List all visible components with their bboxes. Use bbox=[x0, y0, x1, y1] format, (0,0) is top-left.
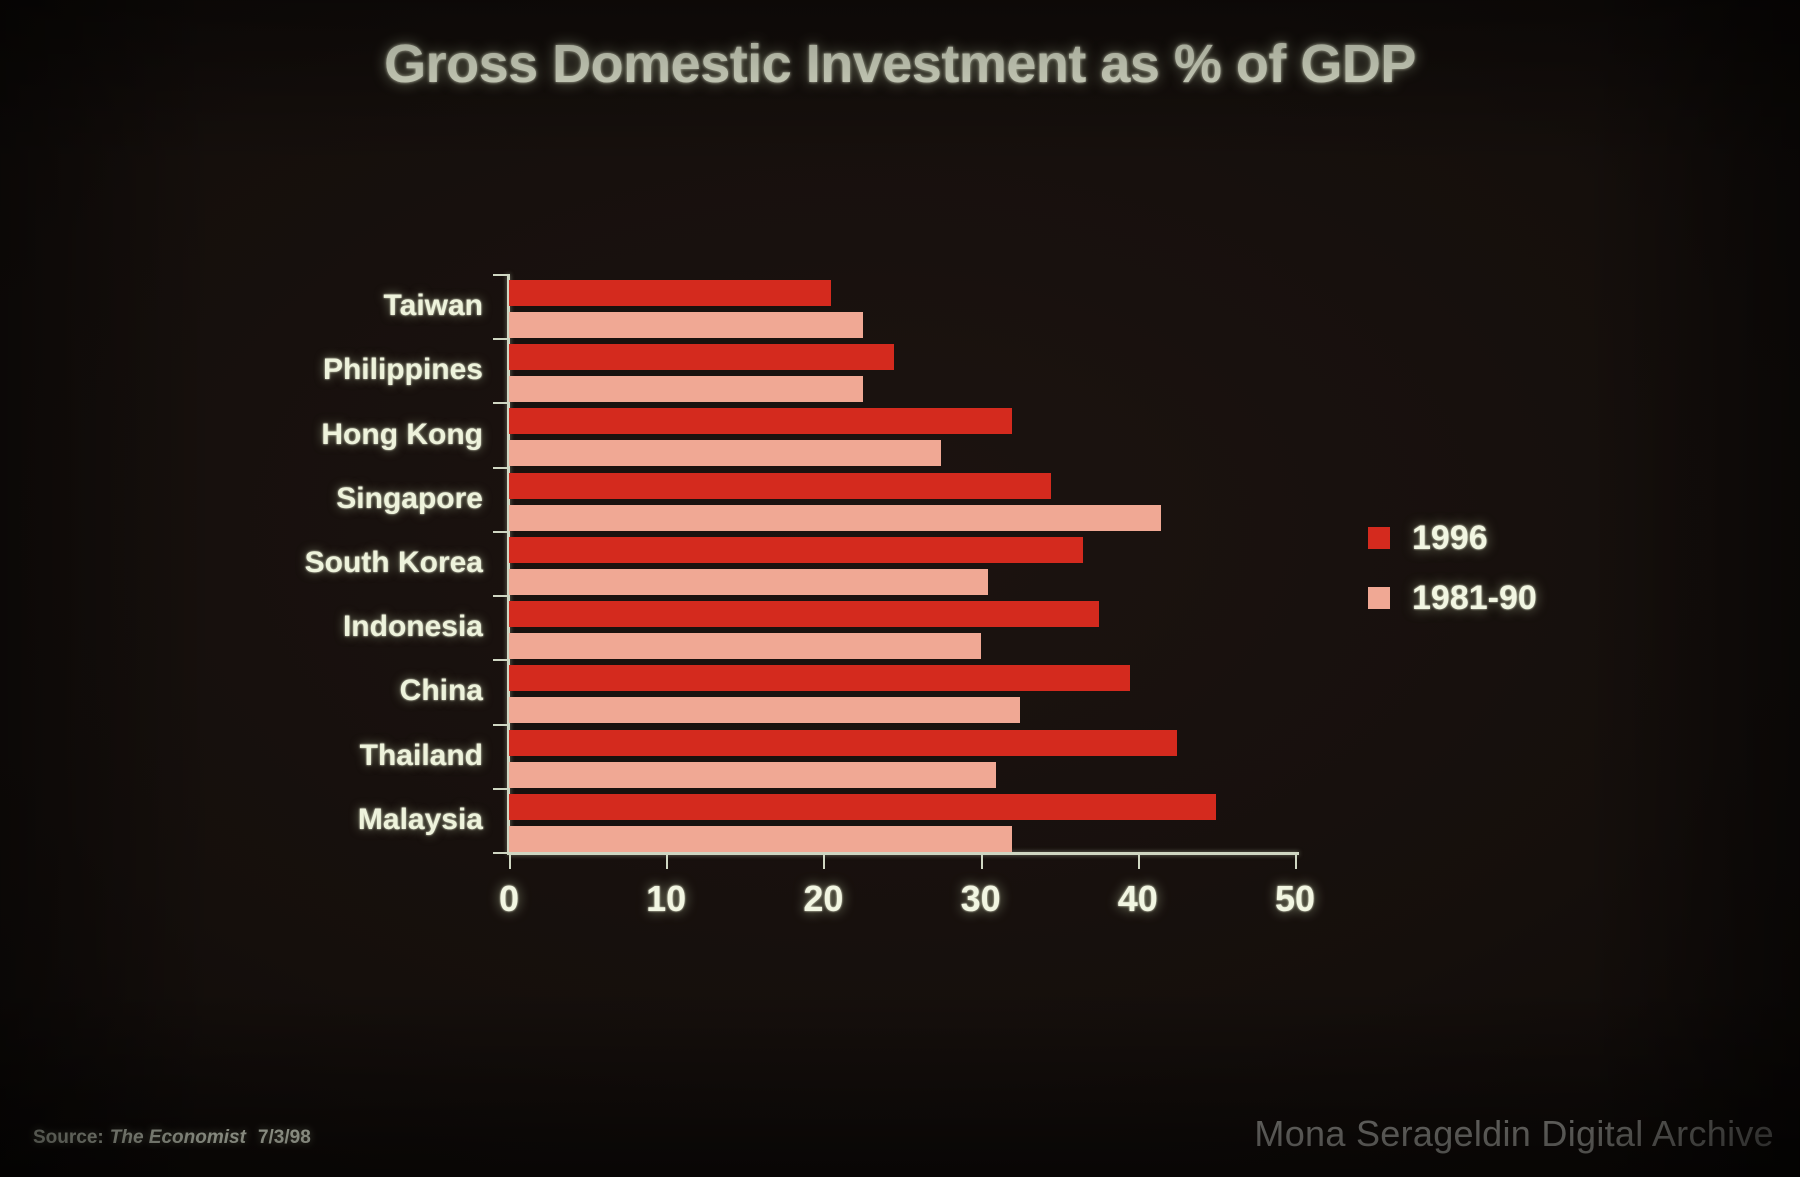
x-axis-tick bbox=[666, 852, 668, 869]
y-axis-tick bbox=[493, 274, 509, 276]
bar-1996 bbox=[509, 730, 1177, 756]
bar-1981-90 bbox=[509, 376, 863, 402]
bar-1981-90 bbox=[509, 697, 1020, 723]
source-note: Source:The Economist7/3/98 bbox=[33, 1127, 311, 1149]
category-label: Singapore bbox=[336, 482, 483, 516]
category-label: Philippines bbox=[323, 353, 483, 387]
y-axis-tick bbox=[493, 402, 509, 404]
y-axis-tick bbox=[493, 338, 509, 340]
x-axis-tick bbox=[981, 852, 983, 869]
y-axis-tick bbox=[493, 595, 509, 597]
bar-1996 bbox=[509, 344, 894, 370]
x-axis-tick bbox=[823, 852, 825, 869]
y-axis-tick bbox=[493, 788, 509, 790]
bar-chart-plot-area: TaiwanPhilippinesHong KongSingaporeSouth… bbox=[509, 274, 1295, 852]
category-label: Indonesia bbox=[343, 610, 483, 644]
legend-label: 1981-90 bbox=[1412, 579, 1537, 618]
x-axis-tick bbox=[1295, 852, 1297, 869]
bar-1981-90 bbox=[509, 826, 1012, 852]
x-axis-tick-label: 20 bbox=[803, 878, 843, 920]
bar-group: Taiwan bbox=[509, 274, 1295, 338]
y-axis-tick bbox=[493, 467, 509, 469]
bar-1996 bbox=[509, 794, 1216, 820]
x-axis-tick-label: 30 bbox=[961, 878, 1001, 920]
bar-1981-90 bbox=[509, 440, 941, 466]
source-prefix: Source: bbox=[33, 1127, 104, 1148]
x-axis-tick bbox=[1138, 852, 1140, 869]
archive-watermark: Mona Serageldin Digital Archive bbox=[1254, 1113, 1774, 1155]
legend-item[interactable]: 1996 bbox=[1368, 521, 1537, 555]
bar-group: Singapore bbox=[509, 467, 1295, 531]
x-axis-tick-label: 40 bbox=[1118, 878, 1158, 920]
bar-1981-90 bbox=[509, 505, 1161, 531]
bar-group: Indonesia bbox=[509, 595, 1295, 659]
legend-label: 1996 bbox=[1412, 519, 1488, 558]
bar-group: South Korea bbox=[509, 531, 1295, 595]
category-label: Taiwan bbox=[384, 289, 483, 323]
chart-legend: 19961981-90 bbox=[1368, 521, 1537, 641]
bar-1981-90 bbox=[509, 633, 981, 659]
category-label: South Korea bbox=[305, 546, 483, 580]
slide-background: Gross Domestic Investment as % of GDP Ta… bbox=[0, 0, 1800, 1177]
bar-group: Hong Kong bbox=[509, 402, 1295, 466]
x-axis-line bbox=[507, 852, 1299, 855]
bar-1996 bbox=[509, 665, 1130, 691]
y-axis-tick bbox=[493, 852, 509, 854]
bar-1996 bbox=[509, 601, 1099, 627]
bar-1996 bbox=[509, 473, 1051, 499]
category-label: Hong Kong bbox=[321, 418, 483, 452]
legend-swatch-icon bbox=[1368, 587, 1390, 609]
legend-item[interactable]: 1981-90 bbox=[1368, 581, 1537, 615]
x-axis-tick-label: 50 bbox=[1275, 878, 1315, 920]
x-axis-tick-label: 0 bbox=[499, 878, 519, 920]
legend-swatch-icon bbox=[1368, 527, 1390, 549]
page-title: Gross Domestic Investment as % of GDP bbox=[0, 33, 1800, 95]
source-date: 7/3/98 bbox=[258, 1127, 311, 1148]
source-publication: The Economist bbox=[110, 1127, 246, 1148]
bar-1981-90 bbox=[509, 762, 996, 788]
bar-1981-90 bbox=[509, 569, 988, 595]
x-axis-tick bbox=[509, 852, 511, 869]
category-label: Thailand bbox=[360, 739, 483, 773]
x-axis-tick-label: 10 bbox=[646, 878, 686, 920]
y-axis-tick bbox=[493, 531, 509, 533]
bar-1981-90 bbox=[509, 312, 863, 338]
bar-group: China bbox=[509, 659, 1295, 723]
y-axis-tick bbox=[493, 724, 509, 726]
category-label: Malaysia bbox=[358, 803, 483, 837]
bar-group: Thailand bbox=[509, 724, 1295, 788]
bar-1996 bbox=[509, 537, 1083, 563]
bar-group: Malaysia bbox=[509, 788, 1295, 852]
y-axis-tick bbox=[493, 659, 509, 661]
category-label: China bbox=[400, 674, 483, 708]
bar-1996 bbox=[509, 408, 1012, 434]
bar-group: Philippines bbox=[509, 338, 1295, 402]
bar-1996 bbox=[509, 280, 831, 306]
